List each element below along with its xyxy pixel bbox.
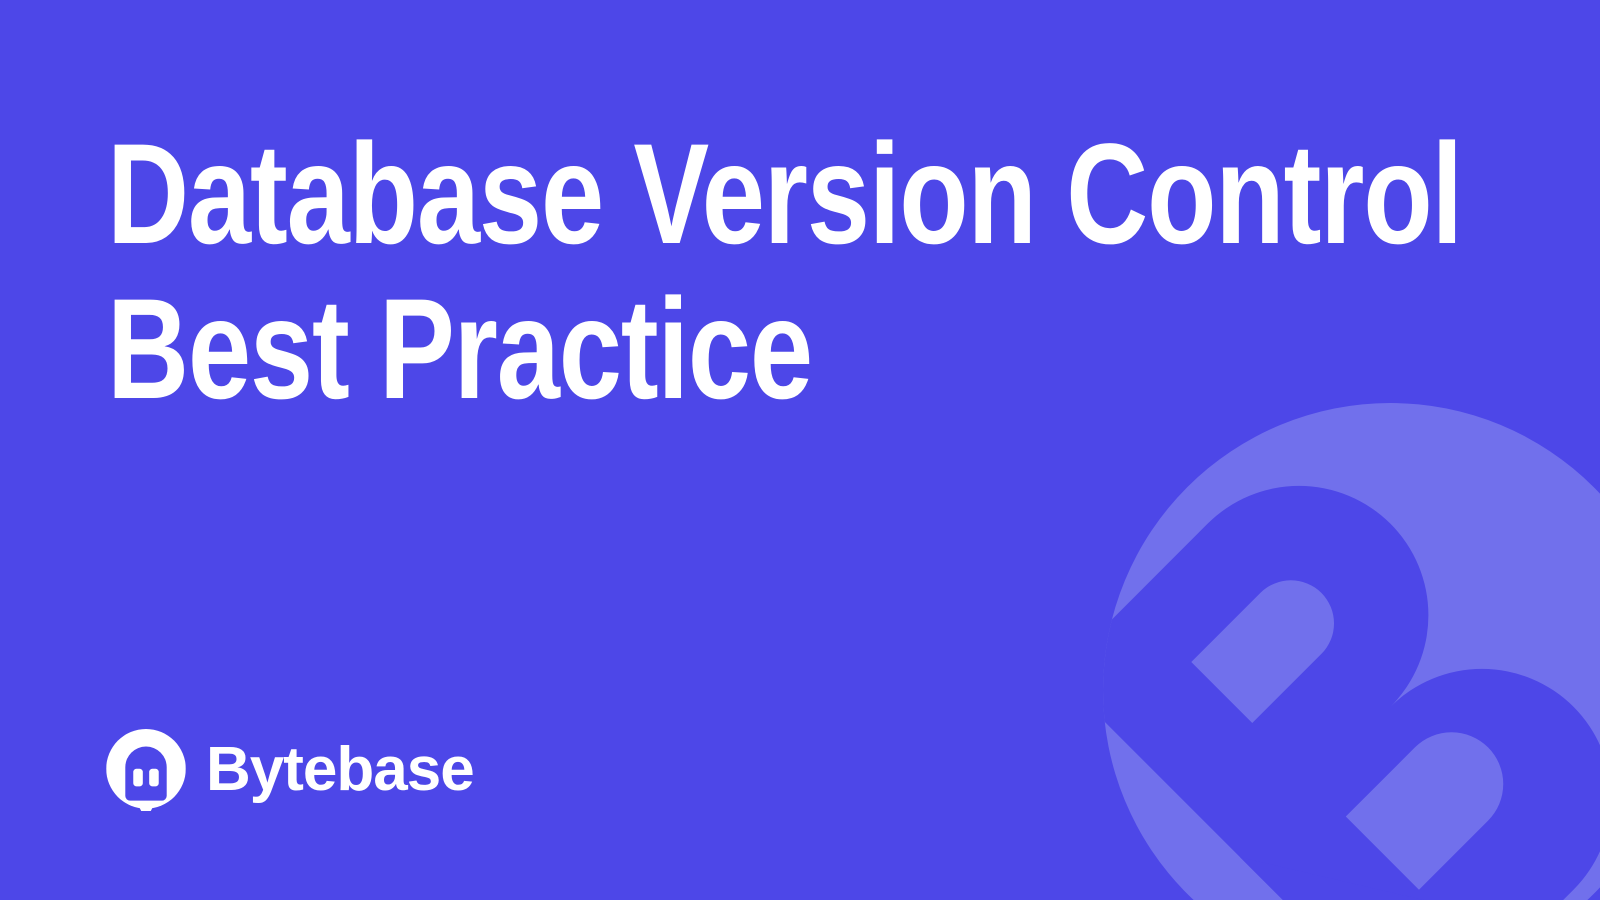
social-card-canvas: Database Version Control Best Practice xyxy=(0,0,1600,900)
bytebase-logo-icon xyxy=(106,729,186,811)
page-title-line-1: Database Version Control xyxy=(107,117,1220,272)
page-title-line-2: Best Practice xyxy=(107,272,1220,427)
bytebase-logo-watermark-icon xyxy=(1103,403,1600,900)
brand-name: Bytebase xyxy=(206,739,474,801)
brand-lockup: Bytebase xyxy=(106,729,474,811)
page-title: Database Version Control Best Practice xyxy=(107,117,1507,427)
